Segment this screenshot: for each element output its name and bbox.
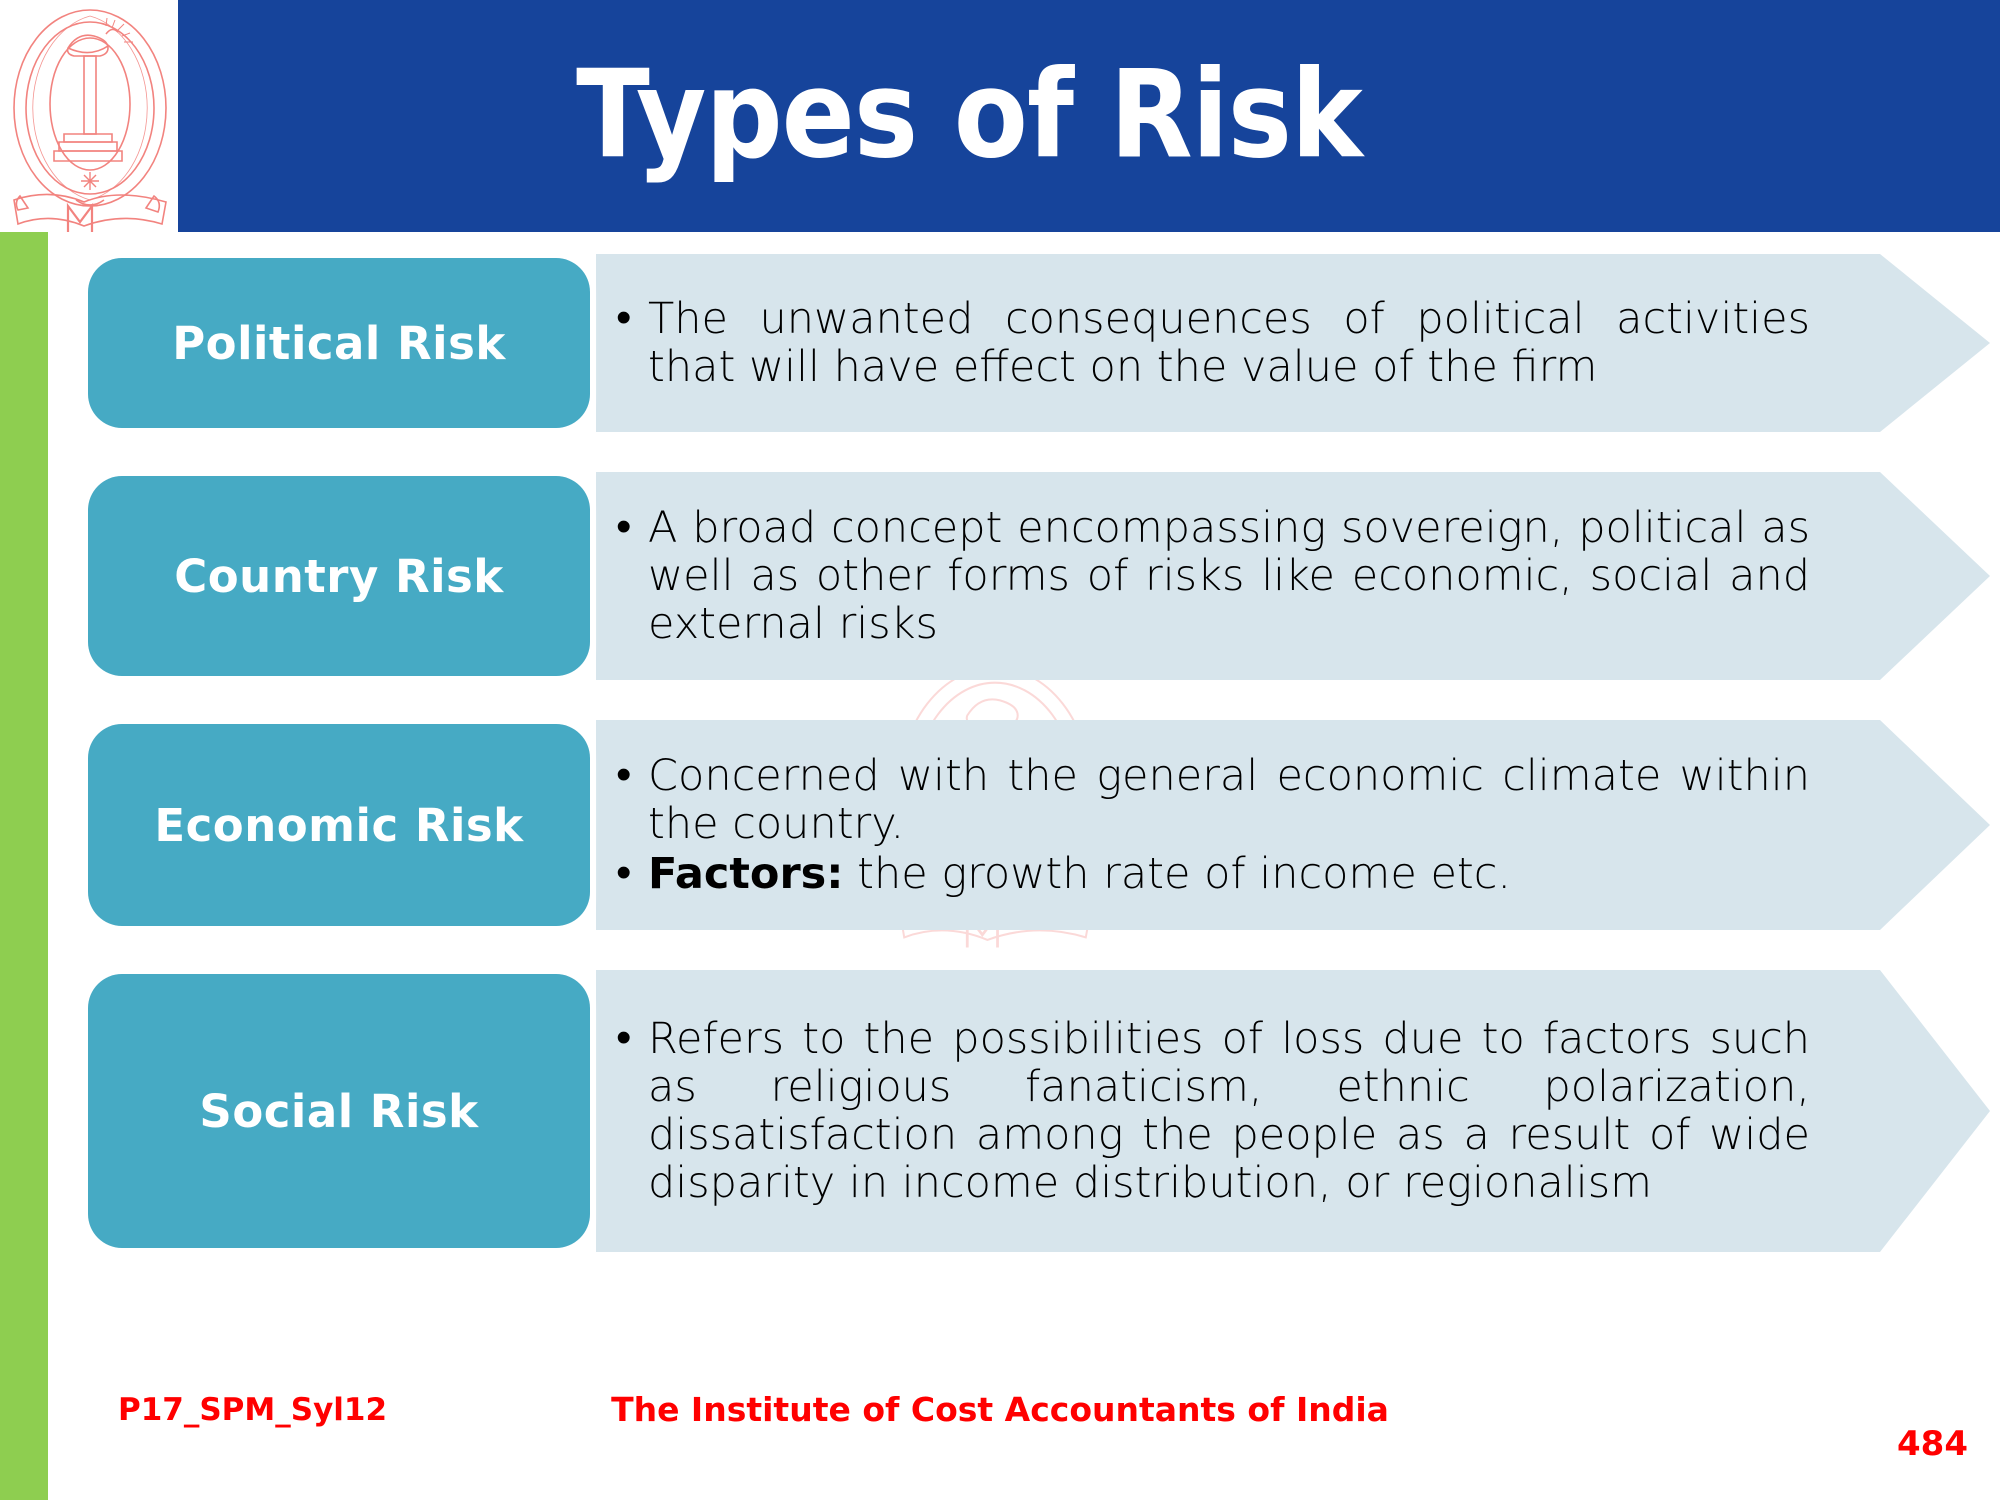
footer-organization: The Institute of Cost Accountants of Ind…: [0, 1390, 2000, 1429]
bullet-list: Concerned with the general economic clim…: [614, 752, 1810, 898]
list-item: The unwanted consequences of political a…: [614, 295, 1810, 391]
risk-label-text: Country Risk: [174, 550, 504, 603]
arrow-banner: A broad concept encompassing sovereign, …: [596, 472, 1990, 680]
institute-logo: [6, 4, 174, 234]
arrow-banner: The unwanted consequences of political a…: [596, 254, 1990, 432]
risk-label-box[interactable]: Social Risk: [88, 974, 590, 1248]
risk-row-social: Refers to the possibilities of loss due …: [0, 948, 2000, 1270]
arrow-banner: Refers to the possibilities of loss due …: [596, 970, 1990, 1252]
risk-row-economic: Concerned with the general economic clim…: [0, 698, 2000, 948]
risk-row-country: A broad concept encompassing sovereign, …: [0, 450, 2000, 698]
bullet-list: Refers to the possibilities of loss due …: [614, 1015, 1810, 1208]
page-number: 484: [1897, 1424, 1968, 1464]
risk-row-political: The unwanted consequences of political a…: [0, 232, 2000, 450]
bullet-list: The unwanted consequences of political a…: [614, 295, 1810, 391]
list-item: Concerned with the general economic clim…: [614, 752, 1810, 848]
risk-label-text: Political Risk: [172, 317, 506, 370]
risk-label-text: Economic Risk: [154, 799, 523, 852]
list-item: Factors: the growth rate of income etc.: [614, 850, 1810, 898]
list-item: A broad concept encompassing sovereign, …: [614, 504, 1810, 648]
bullet-list: A broad concept encompassing sovereign, …: [614, 504, 1810, 648]
risk-label-box[interactable]: Country Risk: [88, 476, 590, 676]
risk-label-box[interactable]: Political Risk: [88, 258, 590, 428]
list-item: Refers to the possibilities of loss due …: [614, 1015, 1810, 1208]
slide-header-band: Types of Risk: [178, 0, 2000, 232]
risk-label-text: Social Risk: [199, 1085, 478, 1138]
page-title: Types of Risk: [576, 56, 1362, 177]
arrow-banner: Concerned with the general economic clim…: [596, 720, 1990, 930]
risk-label-box[interactable]: Economic Risk: [88, 724, 590, 926]
risk-types-list: The unwanted consequences of political a…: [0, 232, 2000, 1362]
